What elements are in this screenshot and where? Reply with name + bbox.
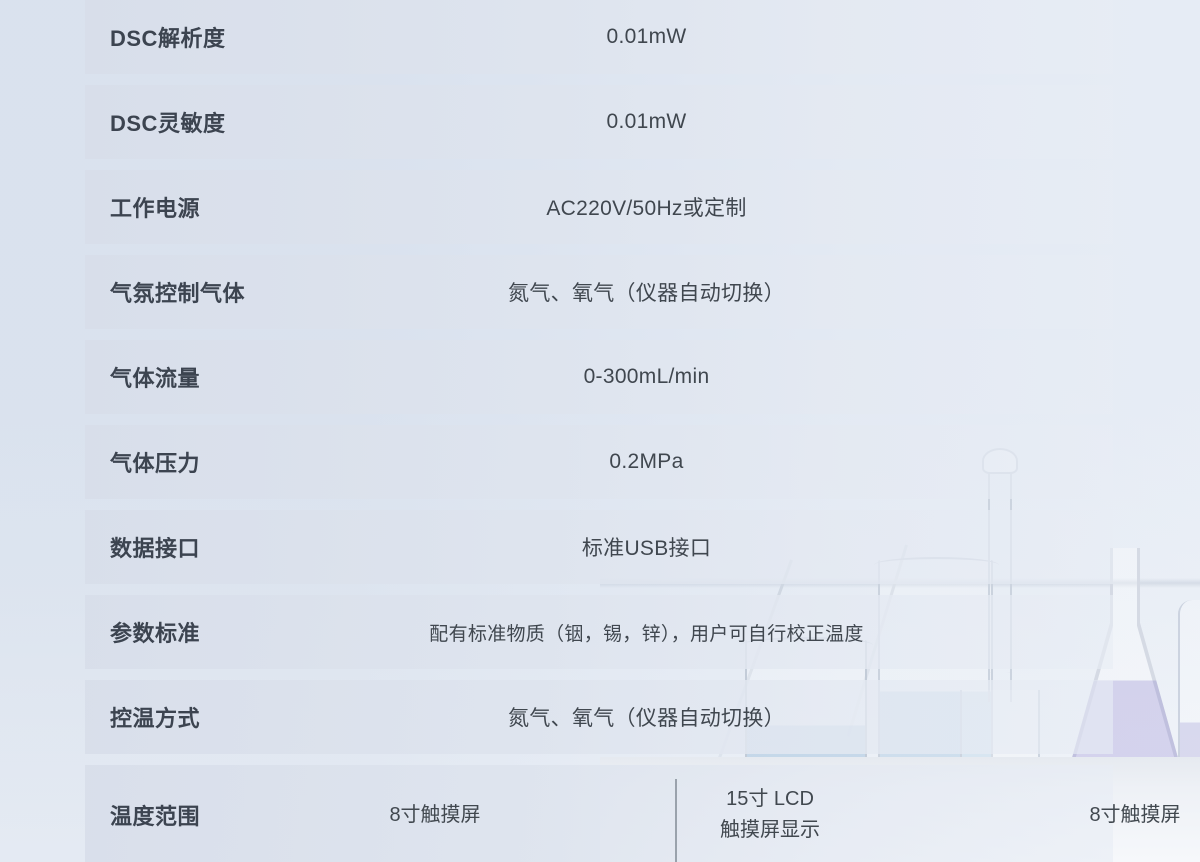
spec-value: 0.01mW [300, 110, 1113, 134]
lcd-touchscreen-display: 15寸 LCD 触摸屏显示 [625, 784, 915, 846]
table-row: 气氛控制气体 氮气、氧气（仪器自动切换） [85, 255, 1113, 329]
spec-label: 气体流量 [85, 361, 300, 393]
table-row: 气体流量 0-300mL/min [85, 340, 1113, 414]
table-row: 控温方式 氮气、氧气（仪器自动切换） [85, 680, 1113, 754]
table-row: DSC解析度 0.01mW [85, 0, 1113, 74]
spec-value: 配有标准物质（铟，锡，锌），用户可自行校正温度 [300, 619, 1113, 646]
table-row: 参数标准 配有标准物质（铟，锡，锌），用户可自行校正温度 [85, 595, 1113, 669]
spec-label: DSC解析度 [85, 21, 300, 53]
spec-label: DSC灵敏度 [85, 106, 300, 138]
touchscreen-8inch-right: 8寸触摸屏 [1020, 800, 1200, 831]
spec-label: 参数标准 [85, 616, 300, 648]
table-row: DSC灵敏度 0.01mW [85, 85, 1113, 159]
table-row: 气体压力 0.2MPa [85, 425, 1113, 499]
spec-value: 0-300mL/min [300, 365, 1113, 389]
vertical-divider [675, 779, 677, 862]
lcd-line-1: 15寸 LCD [625, 784, 915, 815]
spec-label: 工作电源 [85, 191, 300, 223]
spec-table: DSC解析度 0.01mW DSC灵敏度 0.01mW 工作电源 AC220V/… [85, 0, 1113, 862]
table-row: 工作电源 AC220V/50Hz或定制 [85, 170, 1113, 244]
spec-value: 氮气、氧气（仪器自动切换） [300, 702, 1113, 732]
spec-value: 0.01mW [300, 25, 1113, 49]
spec-value: AC220V/50Hz或定制 [300, 192, 1113, 222]
spec-label: 数据接口 [85, 531, 300, 563]
spec-value: 氮气、氧气（仪器自动切换） [300, 277, 1113, 307]
last-row-cells: 8寸触摸屏 15寸 LCD 触摸屏显示 8寸触摸屏 [300, 765, 1200, 862]
spec-value: 标准USB接口 [300, 532, 1113, 562]
spec-value: 0.2MPa [300, 450, 1113, 474]
touchscreen-8inch-left: 8寸触摸屏 [300, 800, 570, 831]
spec-label: 气体压力 [85, 446, 300, 478]
spec-label: 控温方式 [85, 701, 300, 733]
lcd-line-2: 触摸屏显示 [625, 815, 915, 846]
spec-label: 气氛控制气体 [85, 276, 300, 308]
table-row: 数据接口 标准USB接口 [85, 510, 1113, 584]
table-row-temperature-range: 温度范围 8寸触摸屏 15寸 LCD 触摸屏显示 8寸触摸屏 [85, 765, 1113, 862]
spec-label: 温度范围 [85, 799, 300, 831]
